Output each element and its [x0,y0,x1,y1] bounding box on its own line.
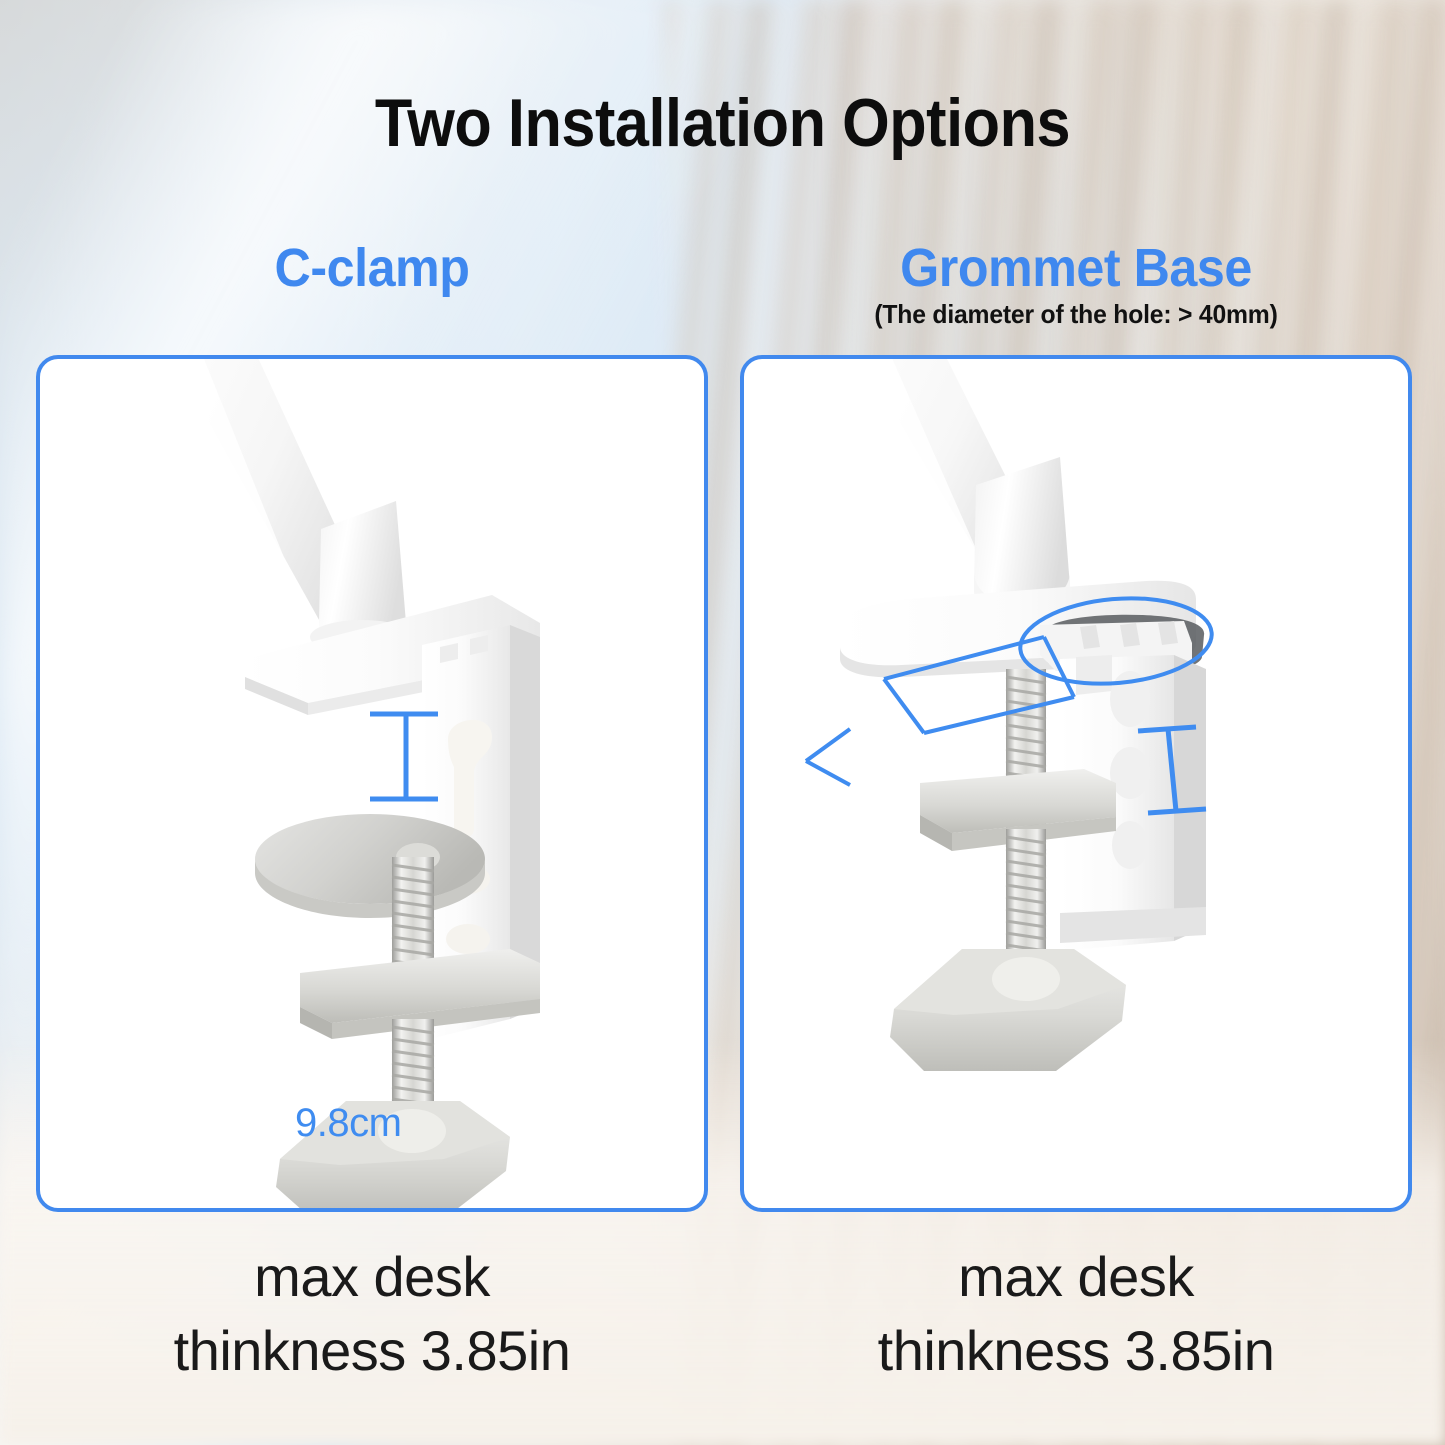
caption-line-1: max desk [740,1240,1412,1314]
dimension-label-thickness: 9.8cm [295,1101,401,1146]
hole-leader-lower [924,697,1074,733]
caption-line-1: max desk [36,1240,708,1314]
dimension-overlay-left [40,359,704,1208]
panel-scene-grommet-base: > 40mm 9.8cm [744,359,1408,1208]
option-caption-grommet-base: max desk thinkness 3.85in [740,1240,1412,1389]
hole-arrow-left [806,729,850,785]
dimension-overlay-right [744,359,1408,1208]
infographic-canvas: Two Installation Options C-clamp Grommet… [0,0,1445,1445]
dim-bottom-tick [1148,809,1206,813]
option-heading-grommet-base: Grommet Base (The diameter of the hole: … [740,240,1412,330]
option-panel-grommet-base: > 40mm 9.8cm [740,355,1412,1212]
option-heading-text: C-clamp [60,240,685,297]
option-heading-c-clamp: C-clamp [36,240,708,297]
caption-line-2: thinkness 3.85in [36,1314,708,1388]
hole-leader-connect-2 [884,679,924,733]
option-heading-text: Grommet Base [764,240,1389,297]
page-title: Two Installation Options [72,84,1373,162]
option-caption-c-clamp: max desk thinkness 3.85in [36,1240,708,1389]
option-subheading-text: (The diameter of the hole: > 40mm) [757,299,1395,330]
caption-line-2: thinkness 3.85in [740,1314,1412,1388]
option-panel-c-clamp: 9.8cm [36,355,708,1212]
panel-scene-c-clamp: 9.8cm [40,359,704,1208]
hole-leader-upper [884,637,1044,679]
dim-vertical [1168,729,1176,811]
hole-leader-connect-1 [1044,637,1074,697]
